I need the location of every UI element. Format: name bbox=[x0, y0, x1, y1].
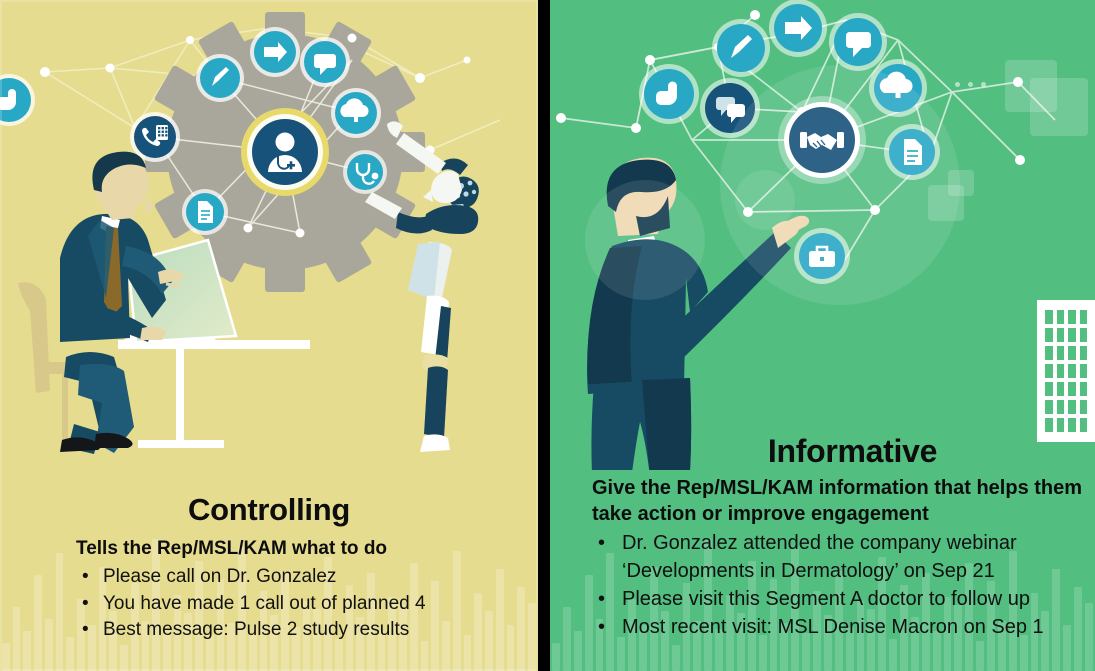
text-block-informative: Informative Give the Rep/MSL/KAM informa… bbox=[550, 430, 1095, 641]
bullet-item: •Most recent visit: MSL Denise Macron on… bbox=[598, 613, 1089, 641]
panel-divider bbox=[538, 0, 550, 671]
building-window bbox=[1068, 310, 1076, 324]
pointing-hand-icon bbox=[0, 74, 35, 126]
panel-lead-informative: Give the Rep/MSL/KAM information that he… bbox=[550, 475, 1095, 527]
building-window bbox=[1045, 364, 1053, 378]
bullet-text: Please call on Dr. Gonzalez bbox=[103, 566, 336, 587]
building-window bbox=[1057, 364, 1065, 378]
bullet-text: Most recent visit: MSL Denise Macron on … bbox=[622, 616, 1044, 638]
bullet-item: •Best message: Pulse 2 study results bbox=[82, 617, 538, 644]
panel-informative: Informative Give the Rep/MSL/KAM informa… bbox=[550, 0, 1095, 671]
building-window bbox=[1045, 310, 1053, 324]
bullet-text: Dr. Gonzalez attended the company webina… bbox=[622, 532, 1017, 582]
building-window bbox=[1080, 382, 1088, 396]
text-block-controlling: Controlling Tells the Rep/MSL/KAM what t… bbox=[0, 490, 538, 644]
bullet-item: •Please visit this Segment A doctor to f… bbox=[598, 585, 1089, 613]
white-office-building bbox=[1037, 300, 1095, 442]
bar-tick bbox=[552, 643, 560, 671]
bar-tick bbox=[2, 643, 10, 671]
building-window bbox=[1045, 382, 1053, 396]
building-window bbox=[1068, 400, 1076, 414]
building-window bbox=[1068, 382, 1076, 396]
building-window bbox=[1080, 328, 1088, 342]
panel-title-informative: Informative bbox=[550, 430, 1095, 472]
phone-keypad-icon bbox=[130, 112, 180, 162]
building-window bbox=[1080, 310, 1088, 324]
bullet-text: You have made 1 call out of planned 4 bbox=[103, 593, 426, 614]
building-window bbox=[1068, 346, 1076, 360]
speech-bubble-icon bbox=[829, 13, 887, 71]
panel-controlling: Controlling Tells the Rep/MSL/KAM what t… bbox=[0, 0, 538, 671]
bullet-text: Best message: Pulse 2 study results bbox=[103, 619, 409, 640]
building-window bbox=[1045, 400, 1053, 414]
decorative-glow-2 bbox=[585, 180, 705, 300]
bullet-glyph: • bbox=[82, 564, 89, 591]
two-panel-comparison-slide: Controlling Tells the Rep/MSL/KAM what t… bbox=[0, 0, 1095, 671]
doctor-icon bbox=[241, 108, 329, 196]
chat-bubble-icon bbox=[300, 37, 350, 87]
building-window bbox=[1080, 346, 1088, 360]
decorative-square-4 bbox=[948, 170, 974, 196]
bullet-item: •Dr. Gonzalez attended the company webin… bbox=[598, 529, 1089, 585]
bar-tick bbox=[421, 641, 429, 671]
building-window bbox=[1057, 310, 1065, 324]
bar-tick bbox=[672, 645, 680, 671]
decorative-dot-1 bbox=[955, 82, 960, 87]
building-window bbox=[1068, 364, 1076, 378]
bullet-item: •You have made 1 call out of planned 4 bbox=[82, 591, 538, 618]
document-icon bbox=[182, 189, 228, 235]
building-window bbox=[1068, 328, 1076, 342]
bar-tick bbox=[976, 641, 984, 671]
pencil-icon bbox=[196, 54, 244, 102]
building-window bbox=[1080, 364, 1088, 378]
building-window bbox=[1045, 346, 1053, 360]
bullet-glyph: • bbox=[598, 613, 605, 641]
bullet-glyph: • bbox=[82, 591, 89, 618]
pencil-icon bbox=[712, 19, 770, 77]
bullet-glyph: • bbox=[82, 617, 89, 644]
bar-tick bbox=[889, 639, 897, 671]
building-window bbox=[1057, 400, 1065, 414]
decorative-dot-3 bbox=[981, 82, 986, 87]
stethoscope-icon bbox=[343, 150, 387, 194]
decorative-glow-3 bbox=[735, 170, 795, 230]
play-arrow-icon bbox=[250, 27, 300, 77]
bar-tick bbox=[335, 639, 343, 671]
illustration-controlling bbox=[0, 0, 538, 500]
building-window bbox=[1057, 346, 1065, 360]
pointing-hand-icon bbox=[639, 64, 699, 124]
building-window bbox=[1045, 328, 1053, 342]
bullet-list-controlling: •Please call on Dr. Gonzalez•You have ma… bbox=[0, 564, 538, 644]
bullet-glyph: • bbox=[598, 585, 605, 613]
bullet-glyph: • bbox=[598, 529, 605, 557]
panel-lead-controlling: Tells the Rep/MSL/KAM what to do bbox=[0, 536, 538, 562]
building-window bbox=[1057, 328, 1065, 342]
bar-tick bbox=[617, 637, 625, 671]
panel-title-controlling: Controlling bbox=[0, 490, 538, 530]
play-arrow-icon bbox=[769, 0, 827, 57]
bullet-item: •Please call on Dr. Gonzalez bbox=[82, 564, 538, 591]
cloud-upload-icon bbox=[331, 88, 381, 138]
bullet-text: Please visit this Segment A doctor to fo… bbox=[622, 588, 1030, 610]
decorative-dot-2 bbox=[968, 82, 973, 87]
bullet-list-informative: •Dr. Gonzalez attended the company webin… bbox=[550, 529, 1095, 641]
bar-tick bbox=[120, 645, 128, 671]
decorative-square-2 bbox=[1030, 78, 1088, 136]
building-window bbox=[1080, 400, 1088, 414]
building-window bbox=[1057, 382, 1065, 396]
